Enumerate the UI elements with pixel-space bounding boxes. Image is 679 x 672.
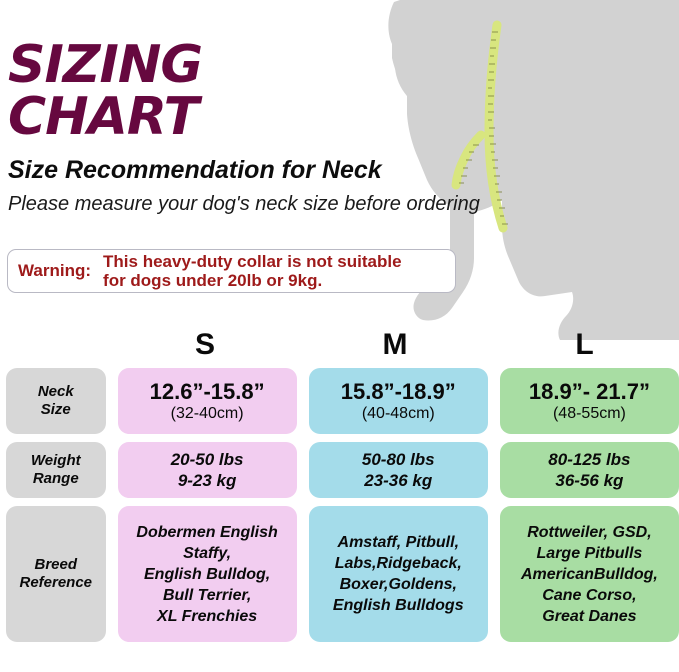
- row-label-line-1: Weight: [31, 452, 81, 470]
- table-row: Neck Size 12.6”-15.8” (32-40cm) 15.8”-18…: [0, 368, 679, 434]
- cell-neck-size-l: 18.9”- 21.7” (48-55cm): [500, 368, 679, 434]
- breed-line: Amstaff, Pitbull,: [338, 532, 460, 553]
- headline-block: SIZING CHART Size Recommendation for Nec…: [8, 40, 478, 216]
- row-label-weight-range: Weight Range: [6, 442, 106, 498]
- warning-message: This heavy-duty collar is not suitable f…: [103, 252, 402, 290]
- column-header-s: S: [110, 330, 300, 360]
- weight-lbs-m: 50-80 lbs: [362, 449, 435, 470]
- cell-breed-reference-l: Rottweiler, GSD,Large PitbullsAmericanBu…: [500, 506, 679, 642]
- neck-size-inches-m: 15.8”-18.9”: [341, 379, 456, 404]
- breed-line: Cane Corso,: [542, 585, 636, 606]
- warning-box: Warning: This heavy-duty collar is not s…: [7, 249, 456, 293]
- row-label-neck-size: Neck Size: [6, 368, 106, 434]
- cell-neck-size-m: 15.8”-18.9” (40-48cm): [309, 368, 488, 434]
- neck-size-cm-s: (32-40cm): [171, 404, 244, 423]
- breed-line: English Bulldogs: [333, 595, 464, 616]
- neck-size-inches-l: 18.9”- 21.7”: [529, 379, 650, 404]
- row-label-line-1: Neck: [38, 383, 74, 401]
- breed-line: Large Pitbulls: [537, 543, 643, 564]
- breed-line: English Bulldog,: [144, 564, 270, 585]
- column-header-m: M: [300, 330, 490, 360]
- size-table: S M L Neck Size 12.6”-15.8” (32-40cm) 15…: [0, 330, 679, 642]
- breed-line: Rottweiler, GSD,: [527, 522, 651, 543]
- breed-line: Staffy,: [183, 543, 231, 564]
- cell-weight-range-s: 20-50 lbs 9-23 kg: [118, 442, 297, 498]
- cell-weight-range-l: 80-125 lbs 36-56 kg: [500, 442, 679, 498]
- table-row: Weight Range 20-50 lbs 9-23 kg 50-80 lbs…: [0, 442, 679, 498]
- breed-line: Dobermen English: [136, 522, 277, 543]
- page-title-line1: SIZING: [8, 40, 478, 90]
- row-label-breed-reference: Breed Reference: [6, 506, 106, 642]
- neck-size-cm-l: (48-55cm): [553, 404, 626, 423]
- breed-line: Labs,Ridgeback,: [335, 553, 462, 574]
- sizing-chart-page: SIZING CHART Size Recommendation for Nec…: [0, 0, 679, 672]
- cell-weight-range-m: 50-80 lbs 23-36 kg: [309, 442, 488, 498]
- row-label-line-1: Breed: [35, 556, 78, 574]
- breed-line: AmericanBulldog,: [521, 564, 658, 585]
- breed-line: Boxer,Goldens,: [340, 574, 457, 595]
- page-title-line2: CHART: [8, 92, 478, 142]
- row-label-line-2: Range: [33, 470, 79, 488]
- breed-line: XL Frenchies: [157, 606, 257, 627]
- weight-kg-l: 36-56 kg: [555, 470, 623, 491]
- neck-size-cm-m: (40-48cm): [362, 404, 435, 423]
- table-header-row: S M L: [0, 330, 679, 360]
- breed-line: Great Danes: [542, 606, 636, 627]
- weight-kg-s: 9-23 kg: [178, 470, 237, 491]
- cell-breed-reference-s: Dobermen EnglishStaffy,English Bulldog,B…: [118, 506, 297, 642]
- weight-lbs-l: 80-125 lbs: [548, 449, 630, 470]
- row-label-line-2: Reference: [19, 574, 92, 592]
- warning-line-1: This heavy-duty collar is not suitable: [103, 252, 402, 271]
- warning-label: Warning:: [18, 261, 91, 281]
- weight-kg-m: 23-36 kg: [364, 470, 432, 491]
- warning-line-2: for dogs under 20lb or 9kg.: [103, 271, 402, 290]
- table-row: Breed Reference Dobermen EnglishStaffy,E…: [0, 506, 679, 642]
- breed-line: Bull Terrier,: [163, 585, 251, 606]
- cell-neck-size-s: 12.6”-15.8” (32-40cm): [118, 368, 297, 434]
- neck-size-inches-s: 12.6”-15.8”: [150, 379, 265, 404]
- weight-lbs-s: 20-50 lbs: [171, 449, 244, 470]
- instruction-text: Please measure your dog's neck size befo…: [8, 192, 478, 216]
- cell-breed-reference-m: Amstaff, Pitbull,Labs,Ridgeback,Boxer,Go…: [309, 506, 488, 642]
- row-label-line-2: Size: [41, 401, 71, 419]
- column-header-l: L: [490, 330, 679, 360]
- subtitle: Size Recommendation for Neck: [8, 156, 478, 184]
